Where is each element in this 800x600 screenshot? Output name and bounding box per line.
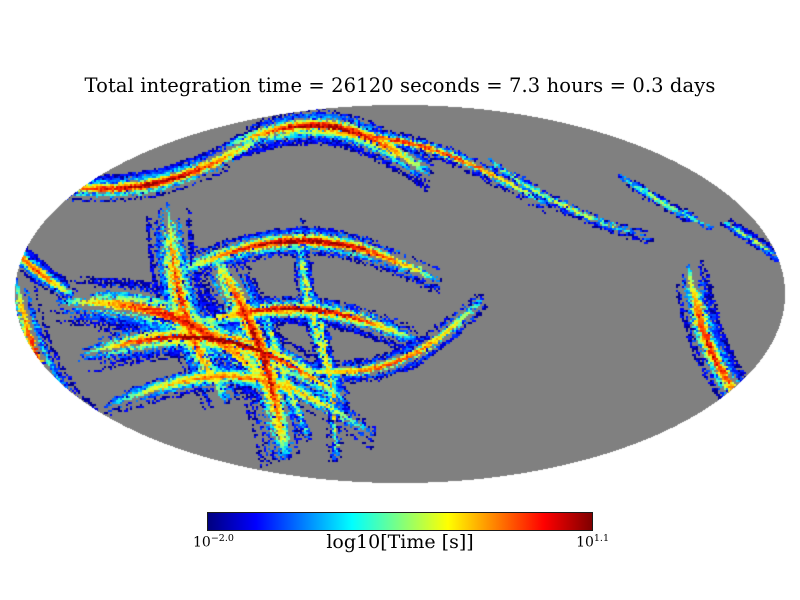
colorbar-gradient	[207, 512, 593, 531]
colorbar-label: log10[Time [s]]	[207, 531, 593, 553]
colorbar-max-exponent: 1.1	[594, 533, 609, 544]
sky-map-figure: Total integration time = 26120 seconds =…	[0, 0, 800, 600]
page-title: Total integration time = 26120 seconds =…	[0, 74, 800, 97]
colorbar: 10−2.0 101.1 log10[Time [s]]	[207, 512, 593, 531]
